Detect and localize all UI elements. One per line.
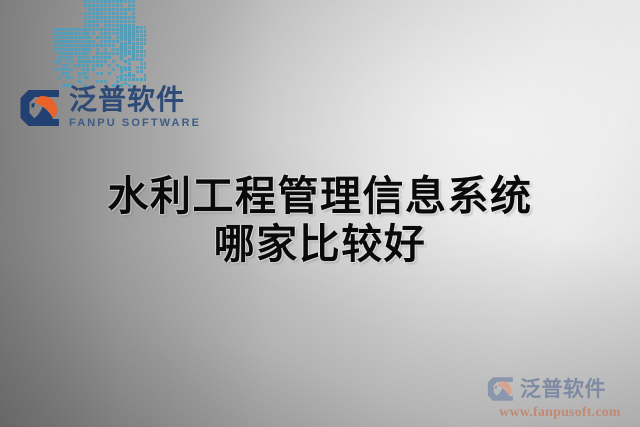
headline-block: 水利工程管理信息系统 哪家比较好: [0, 172, 640, 268]
logo-english-text: FANPU SOFTWARE: [69, 118, 201, 129]
logo-wordmark: 泛普软件 FANPU SOFTWARE: [69, 86, 201, 129]
watermark-url-text: www.fanpusoft.com: [486, 405, 634, 421]
screenshot-canvas: 泛普软件 FANPU SOFTWARE 水利工程管理信息系统 哪家比较好 泛普软…: [0, 0, 640, 427]
watermark-logo-row: 泛普软件: [486, 376, 634, 402]
pixel-skyline-icon: [36, 0, 146, 88]
brand-logo: 泛普软件 FANPU SOFTWARE: [18, 86, 201, 129]
watermark-chinese-text: 泛普软件: [520, 379, 606, 400]
watermark-block: 泛普软件 www.fanpusoft.com: [486, 376, 634, 421]
headline-line-1: 水利工程管理信息系统: [0, 172, 640, 220]
logo-chinese-text: 泛普软件: [69, 86, 201, 114]
headline-line-2: 哪家比较好: [0, 220, 640, 268]
fanpu-logo-mark-icon: [18, 88, 62, 128]
watermark-logo-mark-icon: [486, 376, 515, 402]
